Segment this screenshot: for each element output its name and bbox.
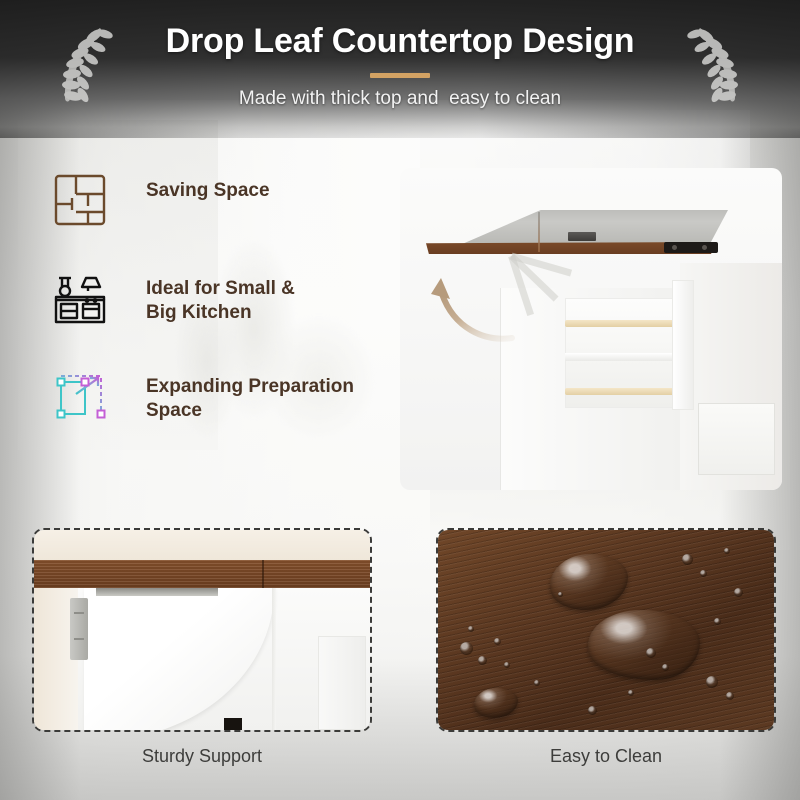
water-bead — [662, 664, 669, 671]
water-bead — [706, 676, 718, 688]
water-bead — [726, 692, 734, 700]
island-door — [672, 280, 694, 410]
feature-label: Saving Space — [146, 179, 270, 203]
water-droplet — [550, 554, 628, 610]
water-bead — [588, 706, 597, 715]
hero-product-image — [400, 168, 782, 490]
round-support-bracket — [84, 588, 274, 732]
wood-rail — [565, 388, 680, 395]
feature-item-saving-space: Saving Space — [52, 172, 392, 228]
kitchen-counter-icon — [52, 270, 108, 326]
card-sturdy-support: Sturdy Support — [32, 528, 372, 767]
cabinet-door — [318, 636, 366, 730]
water-bead — [682, 554, 693, 565]
walnut-edge — [34, 560, 370, 588]
detail-cards: Sturdy Support — [0, 528, 800, 788]
support-foot — [224, 718, 242, 732]
island-right-body — [680, 263, 782, 490]
water-bead — [628, 690, 634, 696]
support-photo — [34, 588, 370, 730]
water-bead — [478, 656, 487, 665]
wood-surface-photo — [438, 530, 774, 730]
feature-item-ideal-kitchen: Ideal for Small & Big Kitchen — [52, 270, 392, 326]
water-bead — [468, 626, 474, 632]
water-droplet — [588, 610, 700, 680]
card-caption: Sturdy Support — [32, 746, 372, 767]
metal-track — [96, 588, 218, 596]
water-bead — [504, 662, 510, 668]
shelf-divider — [565, 353, 683, 361]
feature-list: Saving Space — [52, 172, 392, 466]
water-bead — [734, 588, 743, 597]
drop-leaf-countertop — [426, 210, 728, 256]
leaf-fold-seam — [538, 212, 540, 252]
feature-item-expanding-space: Expanding Preparation Space — [52, 368, 392, 424]
floor-plan-icon — [52, 172, 108, 228]
wood-rail — [565, 320, 680, 327]
expand-area-icon — [52, 368, 108, 424]
card-image-frame — [32, 528, 372, 732]
water-bead — [494, 638, 501, 645]
countertop-underside — [34, 530, 370, 560]
water-bead — [700, 570, 707, 577]
water-bead — [534, 680, 540, 686]
water-bead — [460, 642, 473, 655]
cabinet-edge — [272, 588, 276, 730]
card-easy-to-clean: Easy to Clean — [436, 528, 776, 767]
feature-label: Ideal for Small & Big Kitchen — [146, 277, 295, 325]
countertop-hinge — [664, 242, 718, 253]
title-divider — [370, 73, 430, 78]
card-caption: Easy to Clean — [436, 746, 776, 767]
feature-label: Expanding Preparation Space — [146, 375, 354, 423]
metal-hinge — [70, 598, 88, 660]
laurel-branch-icon — [682, 20, 752, 112]
water-bead — [646, 648, 656, 658]
fold-direction-arrow-icon — [428, 272, 518, 344]
water-bead — [724, 548, 730, 554]
countertop-latch — [568, 232, 596, 241]
page-subtitle: Made with thick top and easy to clean — [0, 88, 800, 110]
page-title: Drop Leaf Countertop Design — [0, 22, 800, 61]
water-bead — [558, 592, 563, 597]
infographic-page: Drop Leaf Countertop Design Made with th… — [0, 0, 800, 800]
water-bead — [714, 618, 721, 625]
edge-seam — [262, 560, 264, 588]
card-image-frame — [436, 528, 776, 732]
water-droplet — [474, 688, 518, 718]
header-banner: Drop Leaf Countertop Design Made with th… — [0, 0, 800, 138]
